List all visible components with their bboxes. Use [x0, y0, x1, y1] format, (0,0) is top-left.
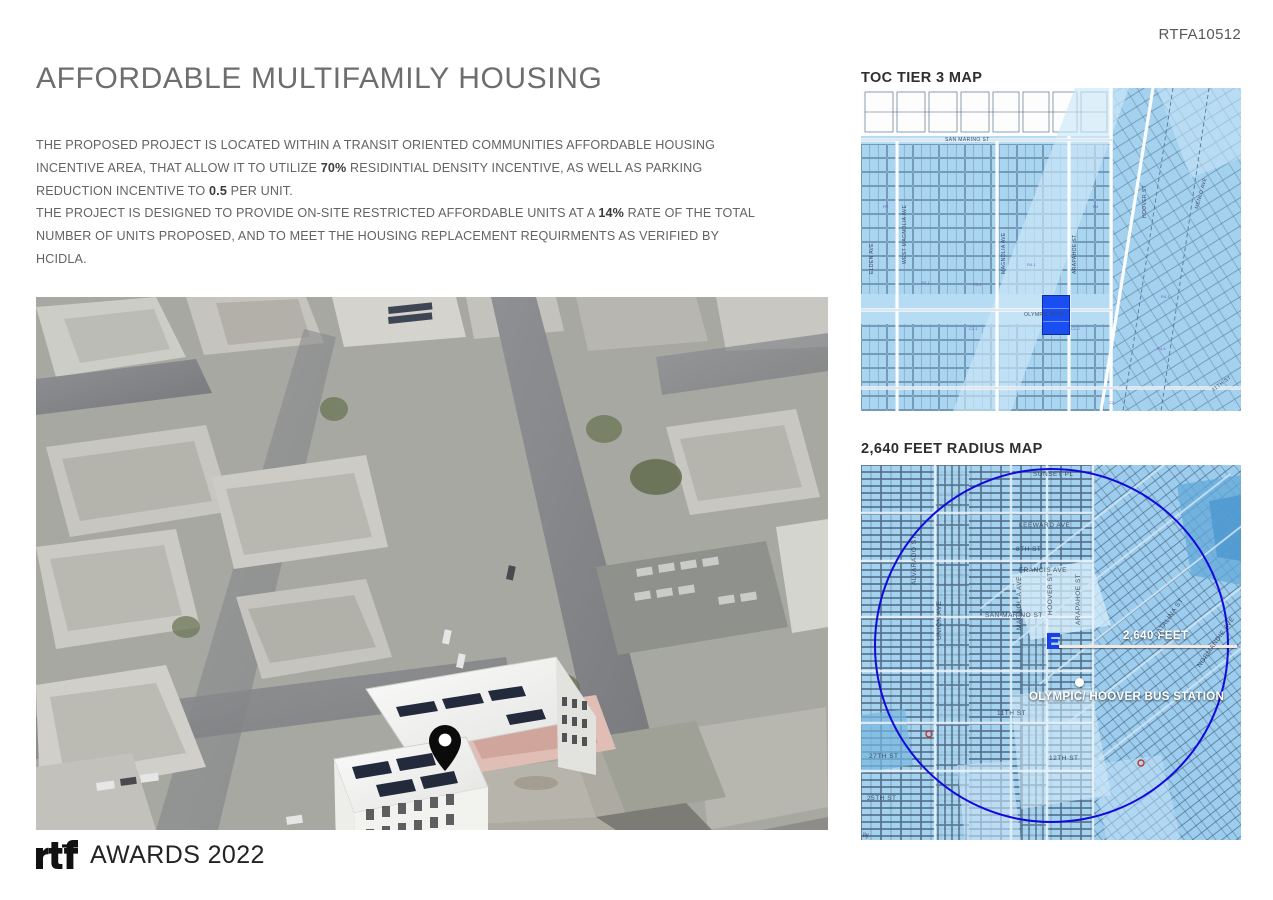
page-title: AFFORDABLE MULTIFAMILY HOUSING — [36, 62, 602, 96]
svg-text:R3-1: R3-1 — [921, 280, 930, 285]
map-attribution: ily — [863, 833, 869, 839]
aerial-site-photo — [36, 297, 828, 830]
footer: AWARDS 2022 — [36, 840, 265, 870]
svg-text:C2: C2 — [1109, 400, 1115, 405]
street-label: ALVARADO ST — [911, 535, 918, 585]
street-label: OLYMPIC BLVD — [1024, 312, 1065, 318]
desc-density-incentive-value: 70% — [321, 161, 347, 175]
rtf-logo-icon — [36, 840, 80, 870]
street-label: SUNSET PL — [1033, 471, 1074, 478]
toc-tier-3-map: C2-1C2-2 R4-1R4-1 R3-1R4-1 R3R4 R3-1C2 S… — [861, 88, 1241, 411]
svg-text:R4-1: R4-1 — [1157, 346, 1166, 351]
bus-station-label: OLYMPIC/ HOOVER BUS STATION — [1029, 691, 1224, 703]
street-label: ELDEN AVE — [869, 243, 875, 274]
street-label: UNION AVE — [936, 601, 943, 640]
svg-text:R4: R4 — [1093, 204, 1099, 209]
svg-text:R4-1: R4-1 — [1161, 294, 1170, 299]
street-label: WEST MAGNOLIA AVE — [902, 205, 908, 264]
desc-affordable-rate-value: 14% — [598, 206, 624, 220]
street-label: HOOVER ST — [1142, 185, 1148, 218]
footer-award-text: AWARDS 2022 — [90, 841, 265, 870]
map-pin-icon — [429, 725, 461, 771]
street-label: 8TH ST — [1016, 546, 1041, 553]
street-label: 11TH ST — [997, 710, 1026, 717]
radius-map: 2,640 FEET OLYMPIC/ HOOVER BUS STATION i… — [861, 465, 1241, 840]
radius-map-heading: 2,640 FEET RADIUS MAP — [861, 441, 1043, 457]
street-label: 12TH ST — [1049, 755, 1079, 762]
street-label: HOOVER ST — [1047, 572, 1054, 615]
description-paragraph-2: THE PROJECT IS DESIGNED TO PROVIDE ON-SI… — [36, 202, 756, 270]
svg-text:C2-2: C2-2 — [1071, 326, 1080, 331]
sheet-id: RTFA10512 — [1159, 26, 1241, 43]
street-label: MAGNOLIA AVE — [1016, 576, 1023, 630]
svg-text:R3-1: R3-1 — [973, 282, 982, 287]
street-label: ARAPAHOE ST — [1075, 574, 1082, 625]
street-label: 27TH ST — [869, 753, 899, 760]
street-label: LEEWARD AVE — [1019, 522, 1070, 529]
svg-text:C2-1: C2-1 — [969, 326, 978, 331]
desc-p1-part-e: PER UNIT. — [227, 184, 293, 198]
street-label: 25TH ST — [867, 795, 897, 802]
toc-map-heading: TOC TIER 3 MAP — [861, 70, 982, 86]
street-label: SAN MARINO ST — [985, 612, 1043, 619]
desc-parking-ratio-value: 0.5 — [209, 184, 227, 198]
toc-map-graphic: C2-1C2-2 R4-1R4-1 R3-1R4-1 R3R4 R3-1C2 — [861, 88, 1241, 411]
desc-p2-part-a: THE PROJECT IS DESIGNED TO PROVIDE ON-SI… — [36, 206, 598, 220]
street-label: FRANCIS AVE — [1019, 567, 1067, 574]
description-paragraph-1: THE PROPOSED PROJECT IS LOCATED WITHIN A… — [36, 134, 756, 202]
street-label: MAGNOLIA AVE — [1001, 232, 1007, 274]
bus-station-marker — [1075, 678, 1084, 687]
project-description: THE PROPOSED PROJECT IS LOCATED WITHIN A… — [36, 134, 756, 271]
svg-text:R4-1: R4-1 — [1027, 262, 1036, 267]
street-label: ARAPAHOE ST — [1072, 234, 1078, 274]
street-label: SAN MARINO ST — [945, 137, 990, 143]
svg-text:R3: R3 — [883, 204, 889, 209]
